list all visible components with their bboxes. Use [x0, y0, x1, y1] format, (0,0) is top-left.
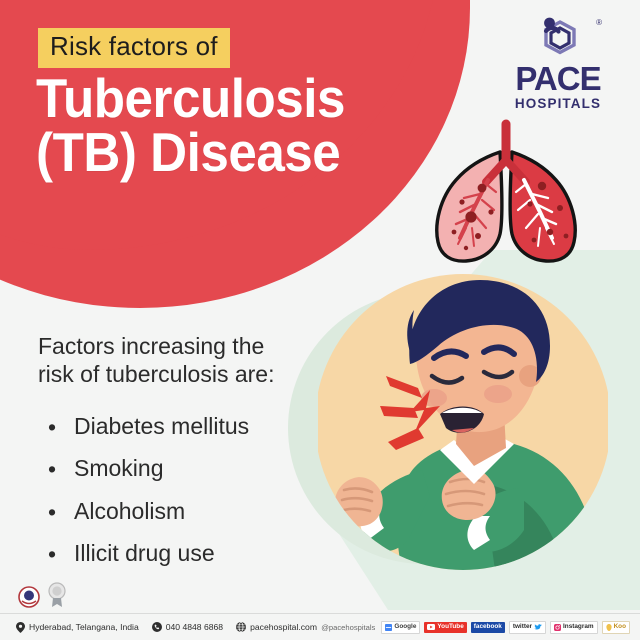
list-item: •Diabetes mellitus	[44, 414, 249, 439]
list-item-label: Alcoholism	[74, 498, 185, 524]
hexagon-person-icon: ®	[498, 16, 618, 60]
instagram-icon	[554, 624, 561, 631]
nabh-accreditation-icon	[18, 586, 40, 608]
footer-website[interactable]: pacehospital.com	[236, 622, 317, 632]
certification-badges	[18, 582, 67, 608]
social-handle: @pacehospitals	[321, 623, 375, 632]
risk-factor-list: •Diabetes mellitus •Smoking •Alcoholism …	[44, 414, 249, 583]
list-item-label: Diabetes mellitus	[74, 413, 249, 439]
social-badge-label: YouTube	[437, 624, 463, 630]
footer-phone[interactable]: 040 4848 6868	[152, 622, 223, 632]
footer-location-label: Hyderabad, Telangana, India	[29, 622, 139, 632]
phone-icon	[152, 622, 162, 632]
youtube-play-icon	[427, 624, 435, 630]
location-pin-icon	[16, 622, 25, 633]
list-item-label: Smoking	[74, 455, 163, 481]
social-badge-label: Koo	[614, 624, 626, 630]
page-title: Tuberculosis (TB) Disease	[36, 72, 345, 180]
social-badge-instagram[interactable]: Instagram	[550, 621, 598, 634]
google-icon	[385, 624, 392, 631]
brand-subtitle: HOSPITALS	[498, 96, 618, 111]
social-badge-label: twitter	[513, 624, 532, 630]
social-badge-label: Google	[394, 624, 416, 630]
intro-text: Factors increasing the risk of tuberculo…	[38, 332, 278, 389]
bullet-icon: •	[48, 500, 56, 525]
registered-trademark-icon: ®	[596, 18, 602, 27]
globe-icon	[236, 622, 246, 632]
footer-website-label: pacehospital.com	[250, 622, 317, 632]
lungs-icon	[416, 116, 596, 268]
quality-certification-icon	[47, 582, 67, 608]
footer-bar: Hyderabad, Telangana, India 040 4848 686…	[0, 613, 640, 640]
infographic-poster: Risk factors of Tuberculosis (TB) Diseas…	[0, 0, 640, 640]
list-item-label: Illicit drug use	[74, 540, 215, 566]
list-item: •Illicit drug use	[44, 541, 249, 566]
social-badge-facebook[interactable]: facebook	[471, 622, 505, 633]
social-badge-koo[interactable]: Koo	[602, 621, 630, 634]
bullet-icon: •	[48, 415, 56, 440]
brand-logo: ® PACE HOSPITALS	[498, 16, 618, 111]
kicker-label: Risk factors of	[38, 28, 230, 68]
twitter-bird-icon	[534, 624, 542, 631]
footer-social-group: @pacehospitals Google YouTube facebook	[321, 621, 640, 634]
page-title-line-1: Tuberculosis	[36, 72, 345, 126]
koo-bird-icon	[606, 624, 612, 631]
bullet-icon: •	[48, 542, 56, 567]
list-item: •Alcoholism	[44, 499, 249, 524]
social-badge-youtube[interactable]: YouTube	[424, 622, 466, 633]
footer-location: Hyderabad, Telangana, India	[16, 622, 139, 633]
social-badge-google[interactable]: Google	[381, 621, 420, 634]
social-badge-label: facebook	[474, 624, 502, 630]
bullet-icon: •	[48, 457, 56, 482]
list-item: •Smoking	[44, 456, 249, 481]
brand-name: PACE	[498, 62, 618, 95]
coughing-man-icon	[318, 272, 608, 582]
social-badge-label: Instagram	[563, 624, 594, 630]
page-title-line-2: (TB) Disease	[36, 126, 345, 180]
footer-contact-group: Hyderabad, Telangana, India 040 4848 686…	[0, 622, 317, 633]
footer-phone-label: 040 4848 6868	[166, 622, 223, 632]
social-badge-twitter[interactable]: twitter	[509, 621, 546, 634]
